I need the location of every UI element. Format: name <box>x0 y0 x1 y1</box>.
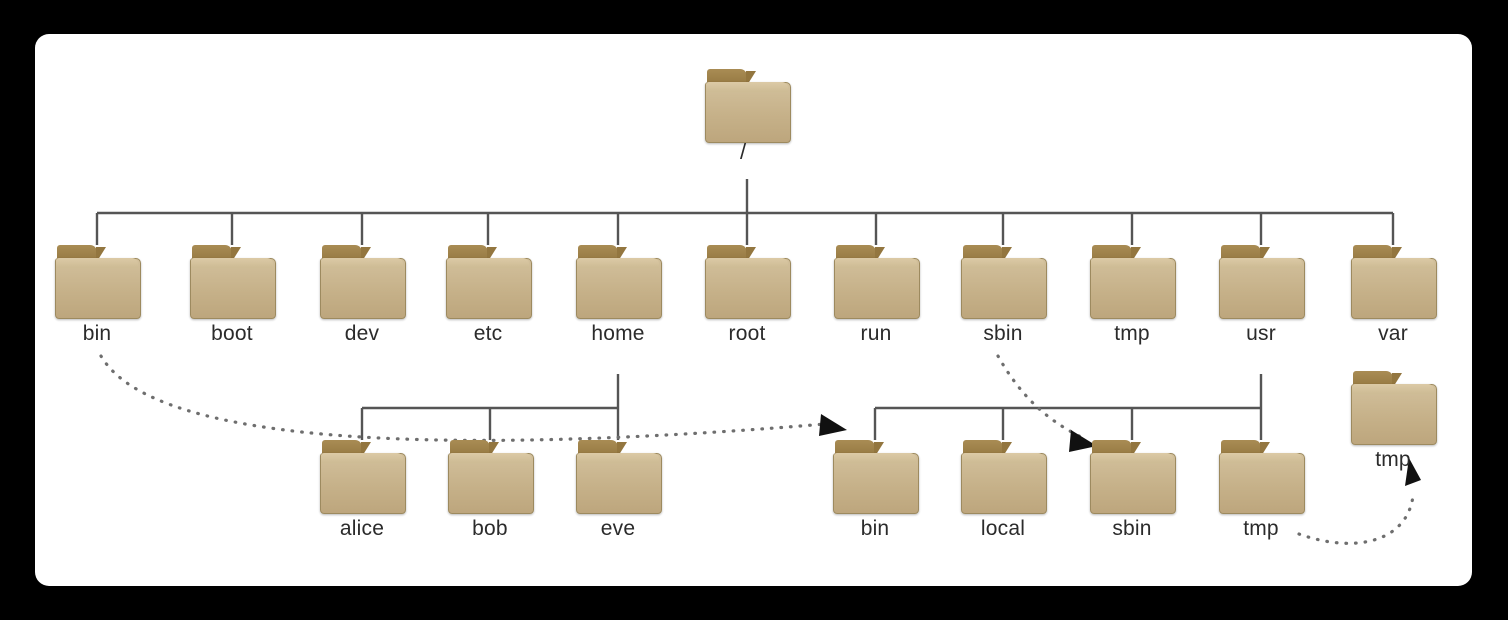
node-label: bin <box>49 322 145 345</box>
node-label: bin <box>827 517 923 540</box>
diagram-canvas: / bin boot dev etc home root run <box>35 34 1472 586</box>
node-label: tmp <box>1345 448 1441 471</box>
node-home-eve[interactable]: eve <box>570 440 666 540</box>
node-root-label: / <box>740 139 746 165</box>
symlink-bin-to-usr-bin <box>101 356 847 440</box>
folder-icon <box>320 245 404 317</box>
node-bin[interactable]: bin <box>49 245 145 345</box>
node-label: alice <box>314 517 410 540</box>
node-label: bob <box>442 517 538 540</box>
node-home-bob[interactable]: bob <box>442 440 538 540</box>
node-run[interactable]: run <box>828 245 924 345</box>
node-var[interactable]: var <box>1345 245 1441 345</box>
folder-icon <box>1219 245 1303 317</box>
folder-icon <box>1219 440 1303 512</box>
node-label: sbin <box>1084 517 1180 540</box>
node-label: tmp <box>1213 517 1309 540</box>
node-label: etc <box>440 322 536 345</box>
folder-icon <box>705 245 789 317</box>
folder-icon <box>576 440 660 512</box>
node-sbin[interactable]: sbin <box>955 245 1051 345</box>
folder-icon <box>320 440 404 512</box>
folder-icon <box>576 245 660 317</box>
node-home[interactable]: home <box>570 245 666 345</box>
folder-icon <box>961 245 1045 317</box>
node-label: root <box>699 322 795 345</box>
node-home-alice[interactable]: alice <box>314 440 410 540</box>
node-usr-local[interactable]: local <box>955 440 1051 540</box>
folder-icon <box>705 69 789 141</box>
node-usr-bin[interactable]: bin <box>827 440 923 540</box>
folder-icon <box>1351 245 1435 317</box>
node-label: local <box>955 517 1051 540</box>
node-label: var <box>1345 322 1441 345</box>
folder-icon <box>1090 440 1174 512</box>
folder-icon <box>961 440 1045 512</box>
node-label: boot <box>184 322 280 345</box>
folder-icon <box>190 245 274 317</box>
node-dev[interactable]: dev <box>314 245 410 345</box>
node-usr-tmp[interactable]: tmp <box>1213 440 1309 540</box>
node-label: sbin <box>955 322 1051 345</box>
node-label: eve <box>570 517 666 540</box>
folder-icon <box>1090 245 1174 317</box>
folder-icon <box>833 440 917 512</box>
node-label: run <box>828 322 924 345</box>
node-etc[interactable]: etc <box>440 245 536 345</box>
node-var-tmp[interactable]: tmp <box>1345 371 1441 471</box>
folder-icon <box>446 245 530 317</box>
node-root-dir[interactable]: root <box>699 245 795 345</box>
node-boot[interactable]: boot <box>184 245 280 345</box>
node-usr-sbin[interactable]: sbin <box>1084 440 1180 540</box>
folder-icon <box>834 245 918 317</box>
node-label: dev <box>314 322 410 345</box>
node-label: home <box>570 322 666 345</box>
folder-icon <box>55 245 139 317</box>
folder-icon <box>1351 371 1435 443</box>
symlink-sbin-to-usr-sbin <box>998 356 1097 452</box>
node-tmp[interactable]: tmp <box>1084 245 1180 345</box>
node-label: usr <box>1213 322 1309 345</box>
node-usr[interactable]: usr <box>1213 245 1309 345</box>
diagram-panel: / bin boot dev etc home root run <box>35 34 1472 586</box>
node-root[interactable] <box>699 69 795 141</box>
folder-icon <box>448 440 532 512</box>
node-label: tmp <box>1084 322 1180 345</box>
